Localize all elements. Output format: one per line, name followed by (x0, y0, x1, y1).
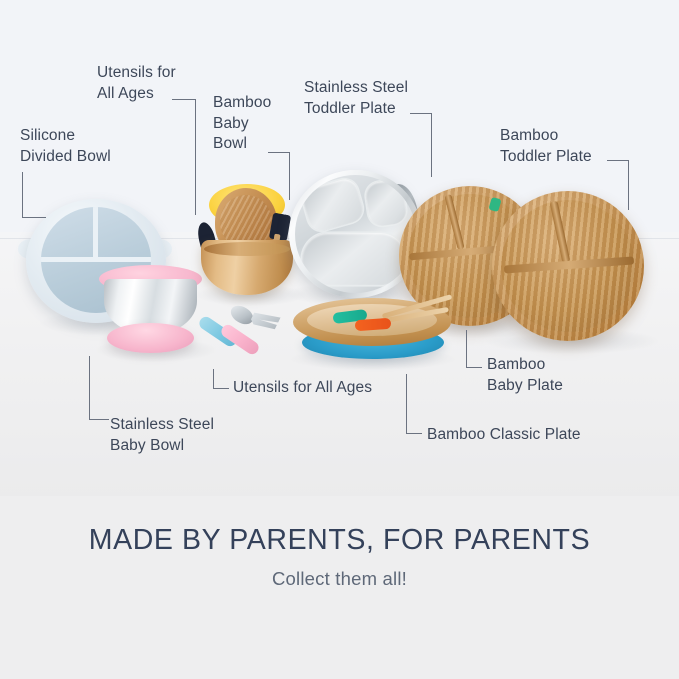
silicone-bowl-divider-vertical (93, 207, 98, 261)
steel-baby-bowl-pink-base (107, 323, 194, 353)
leader-utensils-all-ages-top (172, 99, 204, 217)
leader-silicone-divided-bowl (22, 172, 56, 220)
steel-plate-compartment-top-left (300, 176, 366, 234)
bamboo-baby-bowl-body (201, 240, 293, 295)
steel-plate-compartment-bottom (302, 233, 406, 285)
callout-label-bamboo-baby-bowl: Bamboo Baby Bowl (213, 93, 288, 155)
callout-label-silicone-divided-bowl: Silicone Divided Bowl (20, 126, 170, 167)
callout-label-utensils-all-ages-bottom: Utensils for All Ages (233, 378, 413, 399)
steel-fork-tines (249, 306, 280, 334)
product-stainless-steel-baby-bowl (93, 265, 208, 357)
silicone-bowl-divider-horizontal (41, 257, 151, 262)
infographic-canvas: Silicone Divided Bowl Utensils for All A… (0, 0, 679, 679)
leader-bamboo-toddler-plate (607, 160, 637, 212)
product-bamboo-classic-plate (293, 298, 451, 360)
callout-label-bamboo-baby-plate: Bamboo Baby Plate (487, 355, 617, 396)
steel-plate-compartment-top-right (364, 179, 408, 228)
callout-label-bamboo-toddler-plate: Bamboo Toddler Plate (500, 126, 620, 167)
product-bamboo-toddler-plate-front (492, 191, 644, 341)
callout-label-utensils-all-ages-top: Utensils for All Ages (97, 63, 202, 104)
steel-toddler-plate-face (295, 175, 416, 293)
product-utensils-for-all-ages (197, 305, 303, 361)
leader-bamboo-baby-bowl (268, 152, 296, 202)
callout-label-stainless-baby-bowl: Stainless Steel Baby Bowl (110, 415, 250, 456)
callout-label-stainless-toddler-plate: Stainless Steel Toddler Plate (304, 78, 429, 119)
leader-stainless-toddler-plate (410, 113, 440, 179)
footer-subline: Collect them all! (0, 568, 679, 590)
leader-stainless-baby-bowl (89, 356, 119, 422)
callout-label-bamboo-classic-plate: Bamboo Classic Plate (427, 425, 617, 446)
footer-headline: MADE BY PARENTS, FOR PARENTS (0, 524, 679, 557)
steel-spoon-bowl (228, 302, 257, 328)
